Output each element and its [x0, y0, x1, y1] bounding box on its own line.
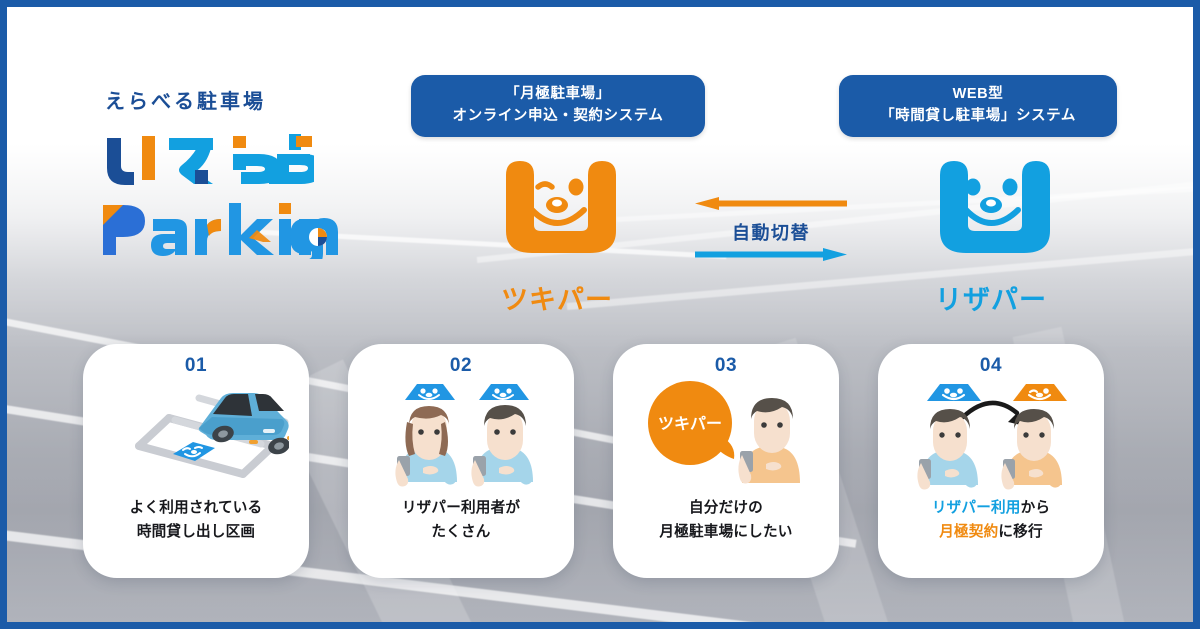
rizapa-name: リザパー — [891, 278, 1091, 317]
caption-line-1: よく利用されている — [130, 497, 263, 521]
tsukipa-bubble-user-illustration: ツキパー — [613, 379, 839, 497]
brand-block: えらべる駐車場 — [99, 85, 399, 264]
step-number: 01 — [185, 355, 207, 377]
tsukipa-mascot-icon — [482, 157, 632, 269]
badge-left-line1: 「月極駐車場」 — [427, 84, 689, 106]
step-card-02[interactable]: 02 — [348, 344, 574, 578]
step-caption: リザパー利用から 月極契約に移行 — [932, 497, 1050, 544]
caption-line-1: リザパー利用者が — [402, 497, 520, 521]
step-number: 04 — [980, 355, 1002, 377]
step-card-04[interactable]: 04 — [878, 344, 1104, 578]
badge-right-line2: 「時間貸し駐車場」システム — [855, 106, 1101, 128]
rizapa-brand-block: リザパー — [891, 157, 1091, 317]
arrow-right-icon — [695, 248, 847, 261]
caption-highlight-monthly: 月極契約 — [939, 524, 998, 540]
tsukipa-brand-block: ツキパー — [457, 157, 657, 317]
caption-line-1: 自分だけの — [659, 497, 792, 521]
bubble-text: ツキパー — [658, 415, 722, 433]
step-caption: 自分だけの 月極駐車場にしたい — [659, 497, 792, 544]
two-users-with-phones-illustration — [348, 379, 574, 497]
caption-line-2: 月極駐車場にしたい — [659, 521, 792, 545]
infographic-frame: えらべる駐車場 — [0, 0, 1200, 629]
auto-switch-label: 自動切替 — [695, 219, 847, 245]
transition-arrow-icon — [963, 403, 1021, 425]
auto-switch-block: 自動切替 — [695, 197, 847, 266]
caption-line-1: リザパー利用から — [932, 497, 1050, 521]
badge-hourly-parking-system: WEB型 「時間貸し駐車場」システム — [839, 75, 1117, 137]
step-card-03[interactable]: 03 ツキパー — [613, 344, 839, 578]
step-caption: リザパー利用者が たくさん — [402, 497, 520, 544]
brand-tagline: えらべる駐車場 — [105, 85, 399, 114]
tsukipa-name: ツキパー — [457, 278, 657, 317]
caption-plain-1: から — [1021, 500, 1051, 516]
rizapa-mascot-icon — [916, 157, 1066, 269]
parking-space-car-illustration — [83, 379, 309, 497]
step-number: 03 — [715, 355, 737, 377]
header-section: えらべる駐車場 — [7, 7, 1193, 327]
parking-wordmark — [99, 201, 399, 264]
tsukipa-speech-bubble: ツキパー — [648, 381, 734, 465]
caption-line-2: たくさん — [402, 521, 520, 545]
badge-monthly-parking-system: 「月極駐車場」 オンライン申込・契約システム — [411, 75, 705, 137]
step-caption: よく利用されている 時間貸し出し区画 — [130, 497, 263, 544]
ierabu-logo — [99, 132, 399, 197]
caption-plain-2: に移行 — [998, 524, 1042, 540]
badge-left-line2: オンライン申込・契約システム — [427, 106, 689, 128]
step-card-01[interactable]: 01 — [83, 344, 309, 578]
tsukipa-badge-icon — [1013, 384, 1067, 401]
caption-line-2: 時間貸し出し区画 — [130, 521, 263, 545]
step-number: 02 — [450, 355, 472, 377]
arrow-left-icon — [695, 197, 847, 210]
rizapa-to-tsukipa-transition-illustration — [878, 379, 1104, 497]
caption-line-2: 月極契約に移行 — [932, 521, 1050, 545]
rizapa-badge-icon — [927, 384, 981, 401]
badge-right-line1: WEB型 — [855, 84, 1101, 106]
caption-highlight-rizapa: リザパー利用 — [932, 500, 1021, 516]
step-cards-row: 01 — [83, 344, 1104, 578]
